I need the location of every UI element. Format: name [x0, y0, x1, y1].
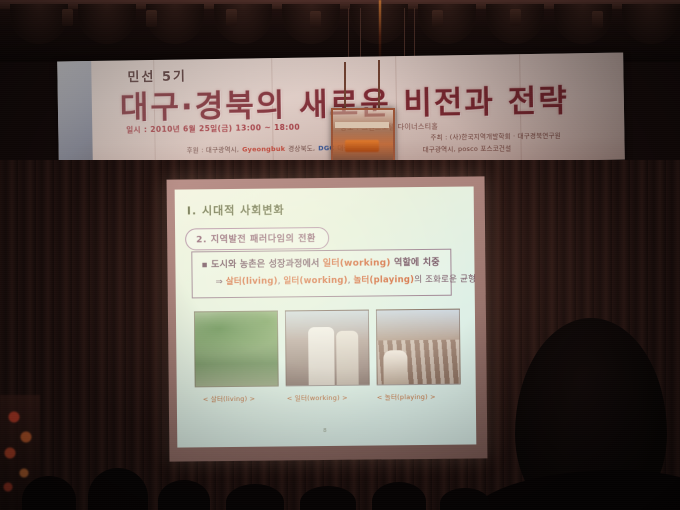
ceiling-swag — [10, 4, 68, 44]
stage-light-icon — [226, 9, 237, 26]
bullet-2-tail: 의 조화로운 균형 — [414, 274, 476, 285]
bullet-2-keyword-playing: 놀터(playing) — [353, 275, 414, 286]
slide-caption-playing: < 놀터(playing) > — [377, 391, 436, 402]
slide-subhead: 2. 지역발전 패러다임의 전환 — [185, 227, 329, 251]
slide-photo-row — [194, 309, 459, 390]
stage-light-icon — [510, 9, 521, 26]
slide-photo-working — [285, 310, 370, 387]
conference-hall-photo: 민선 5기 대구·경북의 새로운 비전과 전략 일시 : 2010년 6월 25… — [0, 0, 680, 510]
slide-photo-living — [194, 311, 279, 388]
stage-light-icon — [592, 11, 603, 28]
sponsor-daegu: 대구광역시, — [206, 146, 239, 155]
hanging-stage-fixture — [331, 108, 395, 167]
bullet-1-keyword: 일터(working) — [323, 258, 391, 269]
bullet-1-text-a: 도시와 농촌은 성장과정에서 — [211, 259, 323, 270]
ceiling-swag — [418, 4, 476, 44]
stage-light-icon — [146, 10, 157, 27]
slide-caption-working: < 일터(working) > — [287, 392, 348, 403]
slide-caption-living: < 살터(living) > — [203, 393, 255, 404]
ceiling-swag — [78, 4, 136, 44]
rig-wire — [414, 8, 415, 58]
slide-bullet-1: ▪ 도시와 농촌은 성장과정에서 일터(working) 역할에 치중 — [201, 255, 439, 270]
presentation-slide: Ⅰ. 시대적 사회변화 2. 지역발전 패러다임의 전환 ▪ 도시와 농촌은 성… — [175, 186, 477, 447]
rig-wire — [348, 8, 349, 62]
bullet-2-keyword-working: 일터(working) — [283, 276, 347, 287]
stage-light-icon — [62, 9, 73, 26]
slide-page-number: 8 — [323, 428, 327, 434]
bullet-1-text-b: 역할에 치중 — [391, 258, 440, 269]
ceiling-swag — [554, 4, 612, 44]
banner-host: 주최 : (사)한국지역개발학회 · 대구경북연구원 — [430, 130, 561, 142]
fixture-bar — [335, 122, 389, 128]
sponsor-prefix: 후원 : — [187, 146, 206, 154]
fixture-cable — [344, 62, 346, 110]
fixture-cable — [378, 60, 380, 110]
slide-photo-playing — [376, 309, 461, 386]
ceiling-swag — [622, 4, 680, 44]
stage-light-icon — [432, 10, 443, 27]
slide-title: Ⅰ. 시대적 사회변화 — [187, 201, 285, 218]
stage-light-icon — [310, 11, 321, 28]
banner-date: 일시 : 2010년 6월 25일(금) 13:00 ~ 18:00 — [126, 122, 300, 136]
sponsor-gyeongbuk: 경상북도, — [288, 144, 315, 152]
rig-wire — [360, 8, 361, 60]
bullet-2-arrow-icon: ⇒ — [216, 277, 223, 287]
bullet-2-keyword-living: 살터(living) — [226, 277, 278, 288]
projection-screen: Ⅰ. 시대적 사회변화 2. 지역발전 패러다임의 전환 ▪ 도시와 농촌은 성… — [167, 176, 488, 461]
bullet-marker: ▪ — [201, 260, 211, 270]
fixture-lamp-icon — [345, 140, 379, 152]
ceiling-swag — [214, 4, 272, 44]
banner-left-graphic — [57, 61, 93, 169]
sponsor-logo-gyeongbuk: Gyeongbuk — [240, 145, 287, 154]
banner-host-secondary: 대구광역시, posco 포스코건설 — [423, 142, 512, 153]
